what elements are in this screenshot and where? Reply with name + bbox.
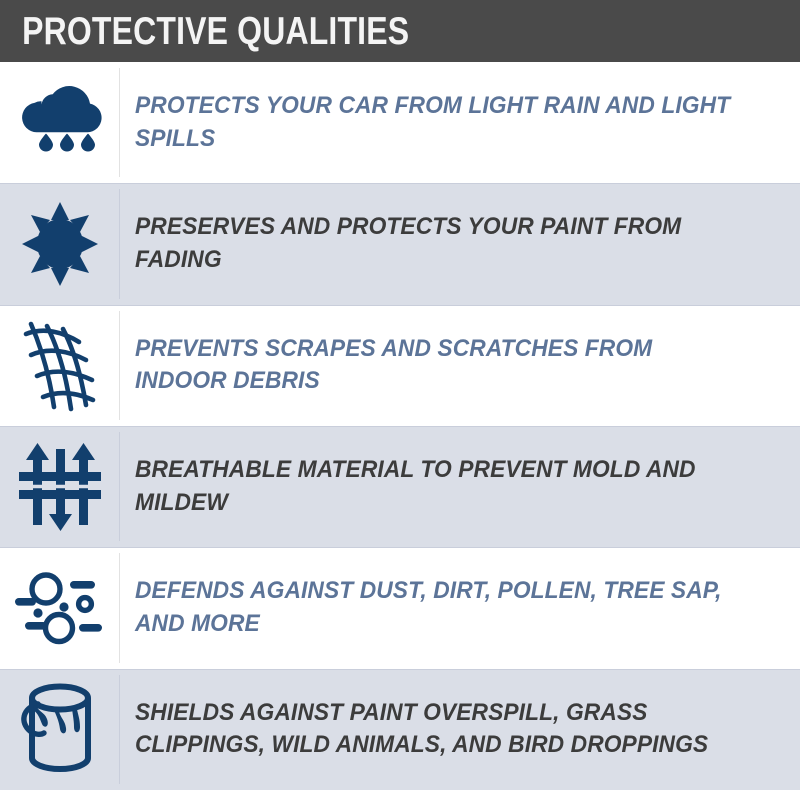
feature-row-list: PROTECTS YOUR CAR FROM LIGHT RAIN AND LI…	[0, 62, 800, 790]
rain-cloud-icon	[17, 79, 103, 167]
dust-particles-icon	[13, 565, 107, 651]
feature-text: PROTECTS YOUR CAR FROM LIGHT RAIN AND LI…	[135, 90, 737, 155]
feature-row: PRESERVES AND PROTECTS YOUR PAINT FROM F…	[0, 183, 800, 304]
feature-row: SHIELDS AGAINST PAINT OVERSPILL, GRASS C…	[0, 669, 800, 790]
feature-text: BREATHABLE MATERIAL TO PREVENT MOLD AND …	[135, 454, 737, 519]
text-cell: BREATHABLE MATERIAL TO PREVENT MOLD AND …	[120, 426, 800, 547]
text-cell: PROTECTS YOUR CAR FROM LIGHT RAIN AND LI…	[120, 62, 800, 183]
feature-row: DEFENDS AGAINST DUST, DIRT, POLLEN, TREE…	[0, 547, 800, 668]
icon-cell	[0, 183, 120, 304]
mesh-scratch-icon	[17, 317, 103, 413]
paint-can-icon	[18, 677, 102, 781]
icon-cell	[0, 547, 120, 668]
feature-text: PREVENTS SCRAPES AND SCRATCHES FROM INDO…	[135, 333, 737, 398]
protective-qualities-infographic: PROTECTIVE QUALITIES PROTECTS YOUR CAR F…	[0, 0, 800, 800]
feature-text: PRESERVES AND PROTECTS YOUR PAINT FROM F…	[135, 211, 737, 276]
header-bar: PROTECTIVE QUALITIES	[0, 0, 800, 62]
feature-row: PREVENTS SCRAPES AND SCRATCHES FROM INDO…	[0, 305, 800, 426]
footer-strip	[0, 790, 800, 800]
breathable-airflow-arrows-icon	[16, 441, 104, 533]
text-cell: SHIELDS AGAINST PAINT OVERSPILL, GRASS C…	[120, 669, 800, 790]
page-title: PROTECTIVE QUALITIES	[0, 12, 409, 51]
feature-text: SHIELDS AGAINST PAINT OVERSPILL, GRASS C…	[135, 697, 737, 762]
text-cell: PRESERVES AND PROTECTS YOUR PAINT FROM F…	[120, 183, 800, 304]
icon-cell	[0, 305, 120, 426]
icon-cell	[0, 426, 120, 547]
text-cell: DEFENDS AGAINST DUST, DIRT, POLLEN, TREE…	[120, 547, 800, 668]
icon-cell	[0, 62, 120, 183]
text-cell: PREVENTS SCRAPES AND SCRATCHES FROM INDO…	[120, 305, 800, 426]
feature-text: DEFENDS AGAINST DUST, DIRT, POLLEN, TREE…	[135, 575, 737, 640]
feature-row: BREATHABLE MATERIAL TO PREVENT MOLD AND …	[0, 426, 800, 547]
icon-cell	[0, 669, 120, 790]
sun-icon	[18, 198, 102, 290]
feature-row: PROTECTS YOUR CAR FROM LIGHT RAIN AND LI…	[0, 62, 800, 183]
